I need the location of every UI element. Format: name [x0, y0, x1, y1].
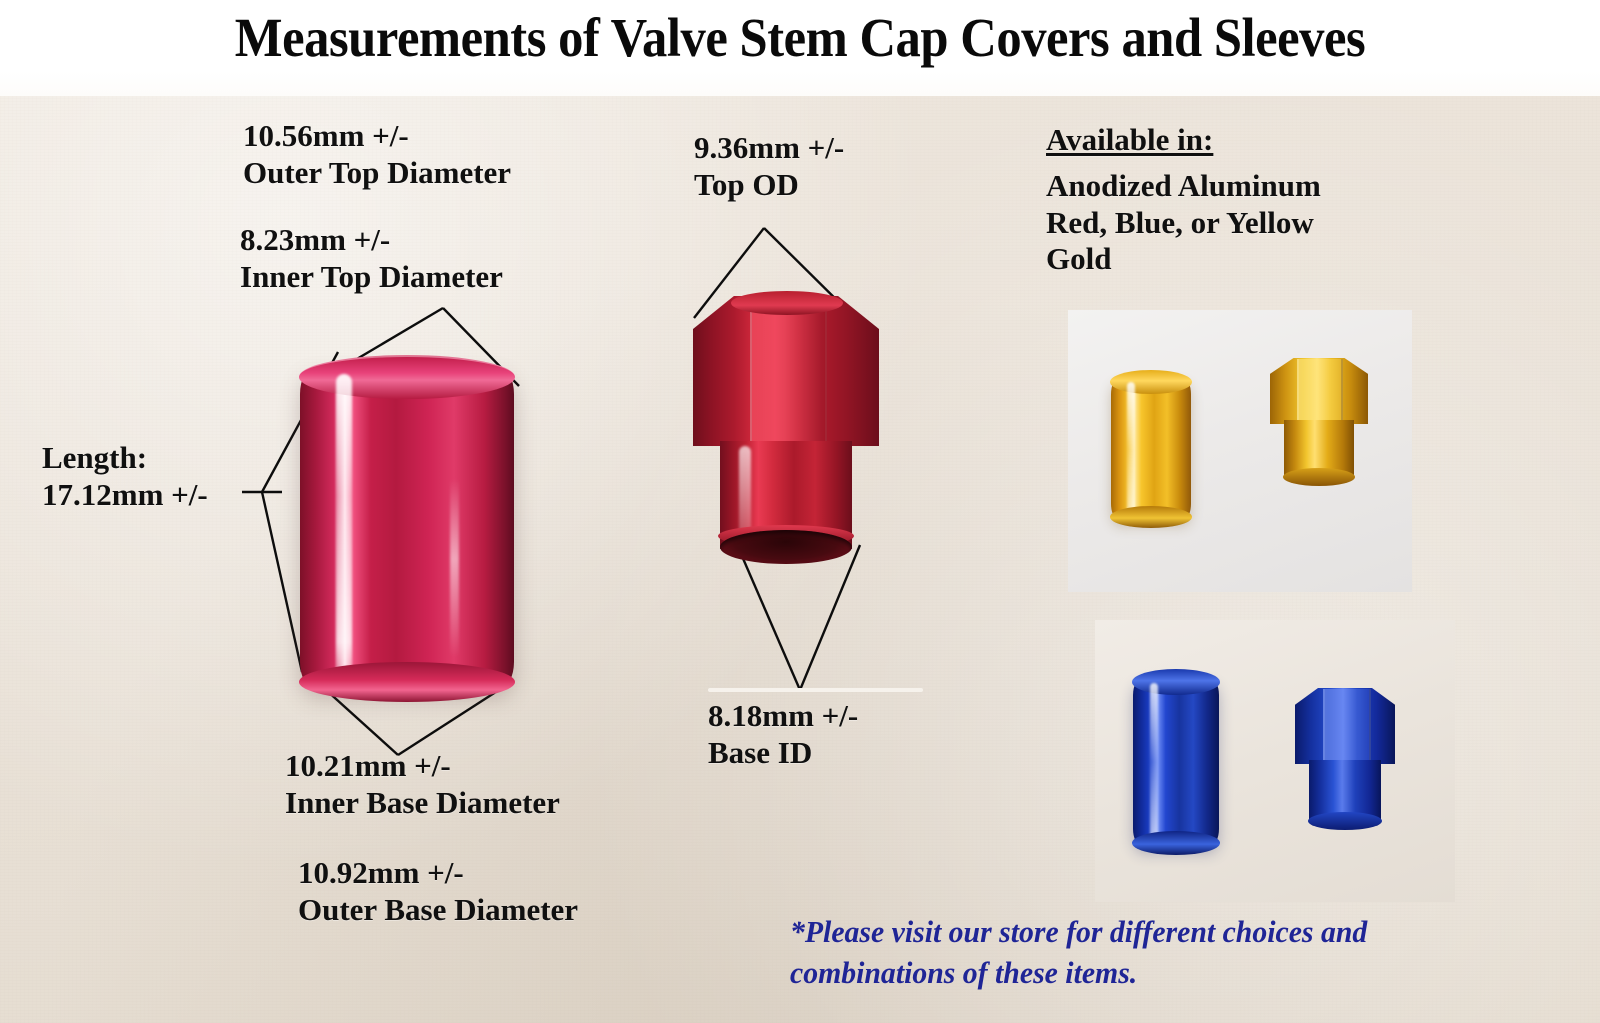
label-length: Length: 17.12mm +/- [42, 440, 208, 513]
poster-canvas: Measurements of Valve Stem Cap Covers an… [0, 0, 1600, 1023]
blue-cap-bottom-rim [1308, 812, 1382, 830]
red-sleeve-highlight [336, 374, 352, 678]
gold-hex-cap-part [1270, 358, 1368, 488]
blue-sleeve-highlight [1150, 683, 1158, 841]
gold-sleeve-bottom-rim [1110, 506, 1192, 528]
label-inner-top-diameter: 8.23mm +/- Inner Top Diameter [240, 222, 503, 295]
label-base-id: 8.18mm +/- Base ID [708, 698, 858, 771]
red-sleeve-top-rim [299, 355, 515, 399]
red-cap-bore-opening [720, 530, 852, 564]
red-sleeve-secondary-highlight [450, 478, 459, 658]
availability-heading: Available in: [1046, 122, 1213, 159]
page-title: Measurements of Valve Stem Cap Covers an… [64, 6, 1536, 69]
red-sleeve-bottom-rim [299, 662, 515, 702]
photo-scuff-line [708, 688, 923, 692]
blue-sleeve-part [1133, 678, 1219, 846]
gold-sleeve-highlight [1127, 382, 1135, 516]
blue-sleeve-bottom-rim [1132, 831, 1220, 855]
red-sleeve-part [300, 368, 514, 688]
label-outer-top-diameter: 10.56mm +/- Outer Top Diameter [243, 118, 511, 191]
blue-hex-cap-part [1295, 688, 1395, 833]
label-outer-base-diameter: 10.92mm +/- Outer Base Diameter [298, 855, 578, 928]
red-cap-front-facet [750, 298, 827, 446]
store-footnote: *Please visit our store for different ch… [790, 912, 1367, 994]
gold-cap-front-facet [1297, 359, 1343, 424]
gold-sleeve-top-rim [1110, 370, 1192, 394]
gold-cap-bottom-rim [1283, 468, 1355, 486]
label-top-od: 9.36mm +/- Top OD [694, 130, 844, 203]
red-hex-cap-part [693, 296, 879, 568]
gold-sleeve-part [1111, 378, 1191, 520]
blue-parts-photo-inset [1095, 620, 1455, 902]
availability-lines: Anodized Aluminum Red, Blue, or Yellow G… [1046, 168, 1321, 278]
red-cap-top-face [731, 291, 843, 315]
blue-sleeve-top-rim [1132, 669, 1220, 695]
label-inner-base-diameter: 10.21mm +/- Inner Base Diameter [285, 748, 560, 821]
gold-parts-photo-inset [1068, 310, 1412, 592]
blue-cap-front-facet [1323, 689, 1371, 764]
